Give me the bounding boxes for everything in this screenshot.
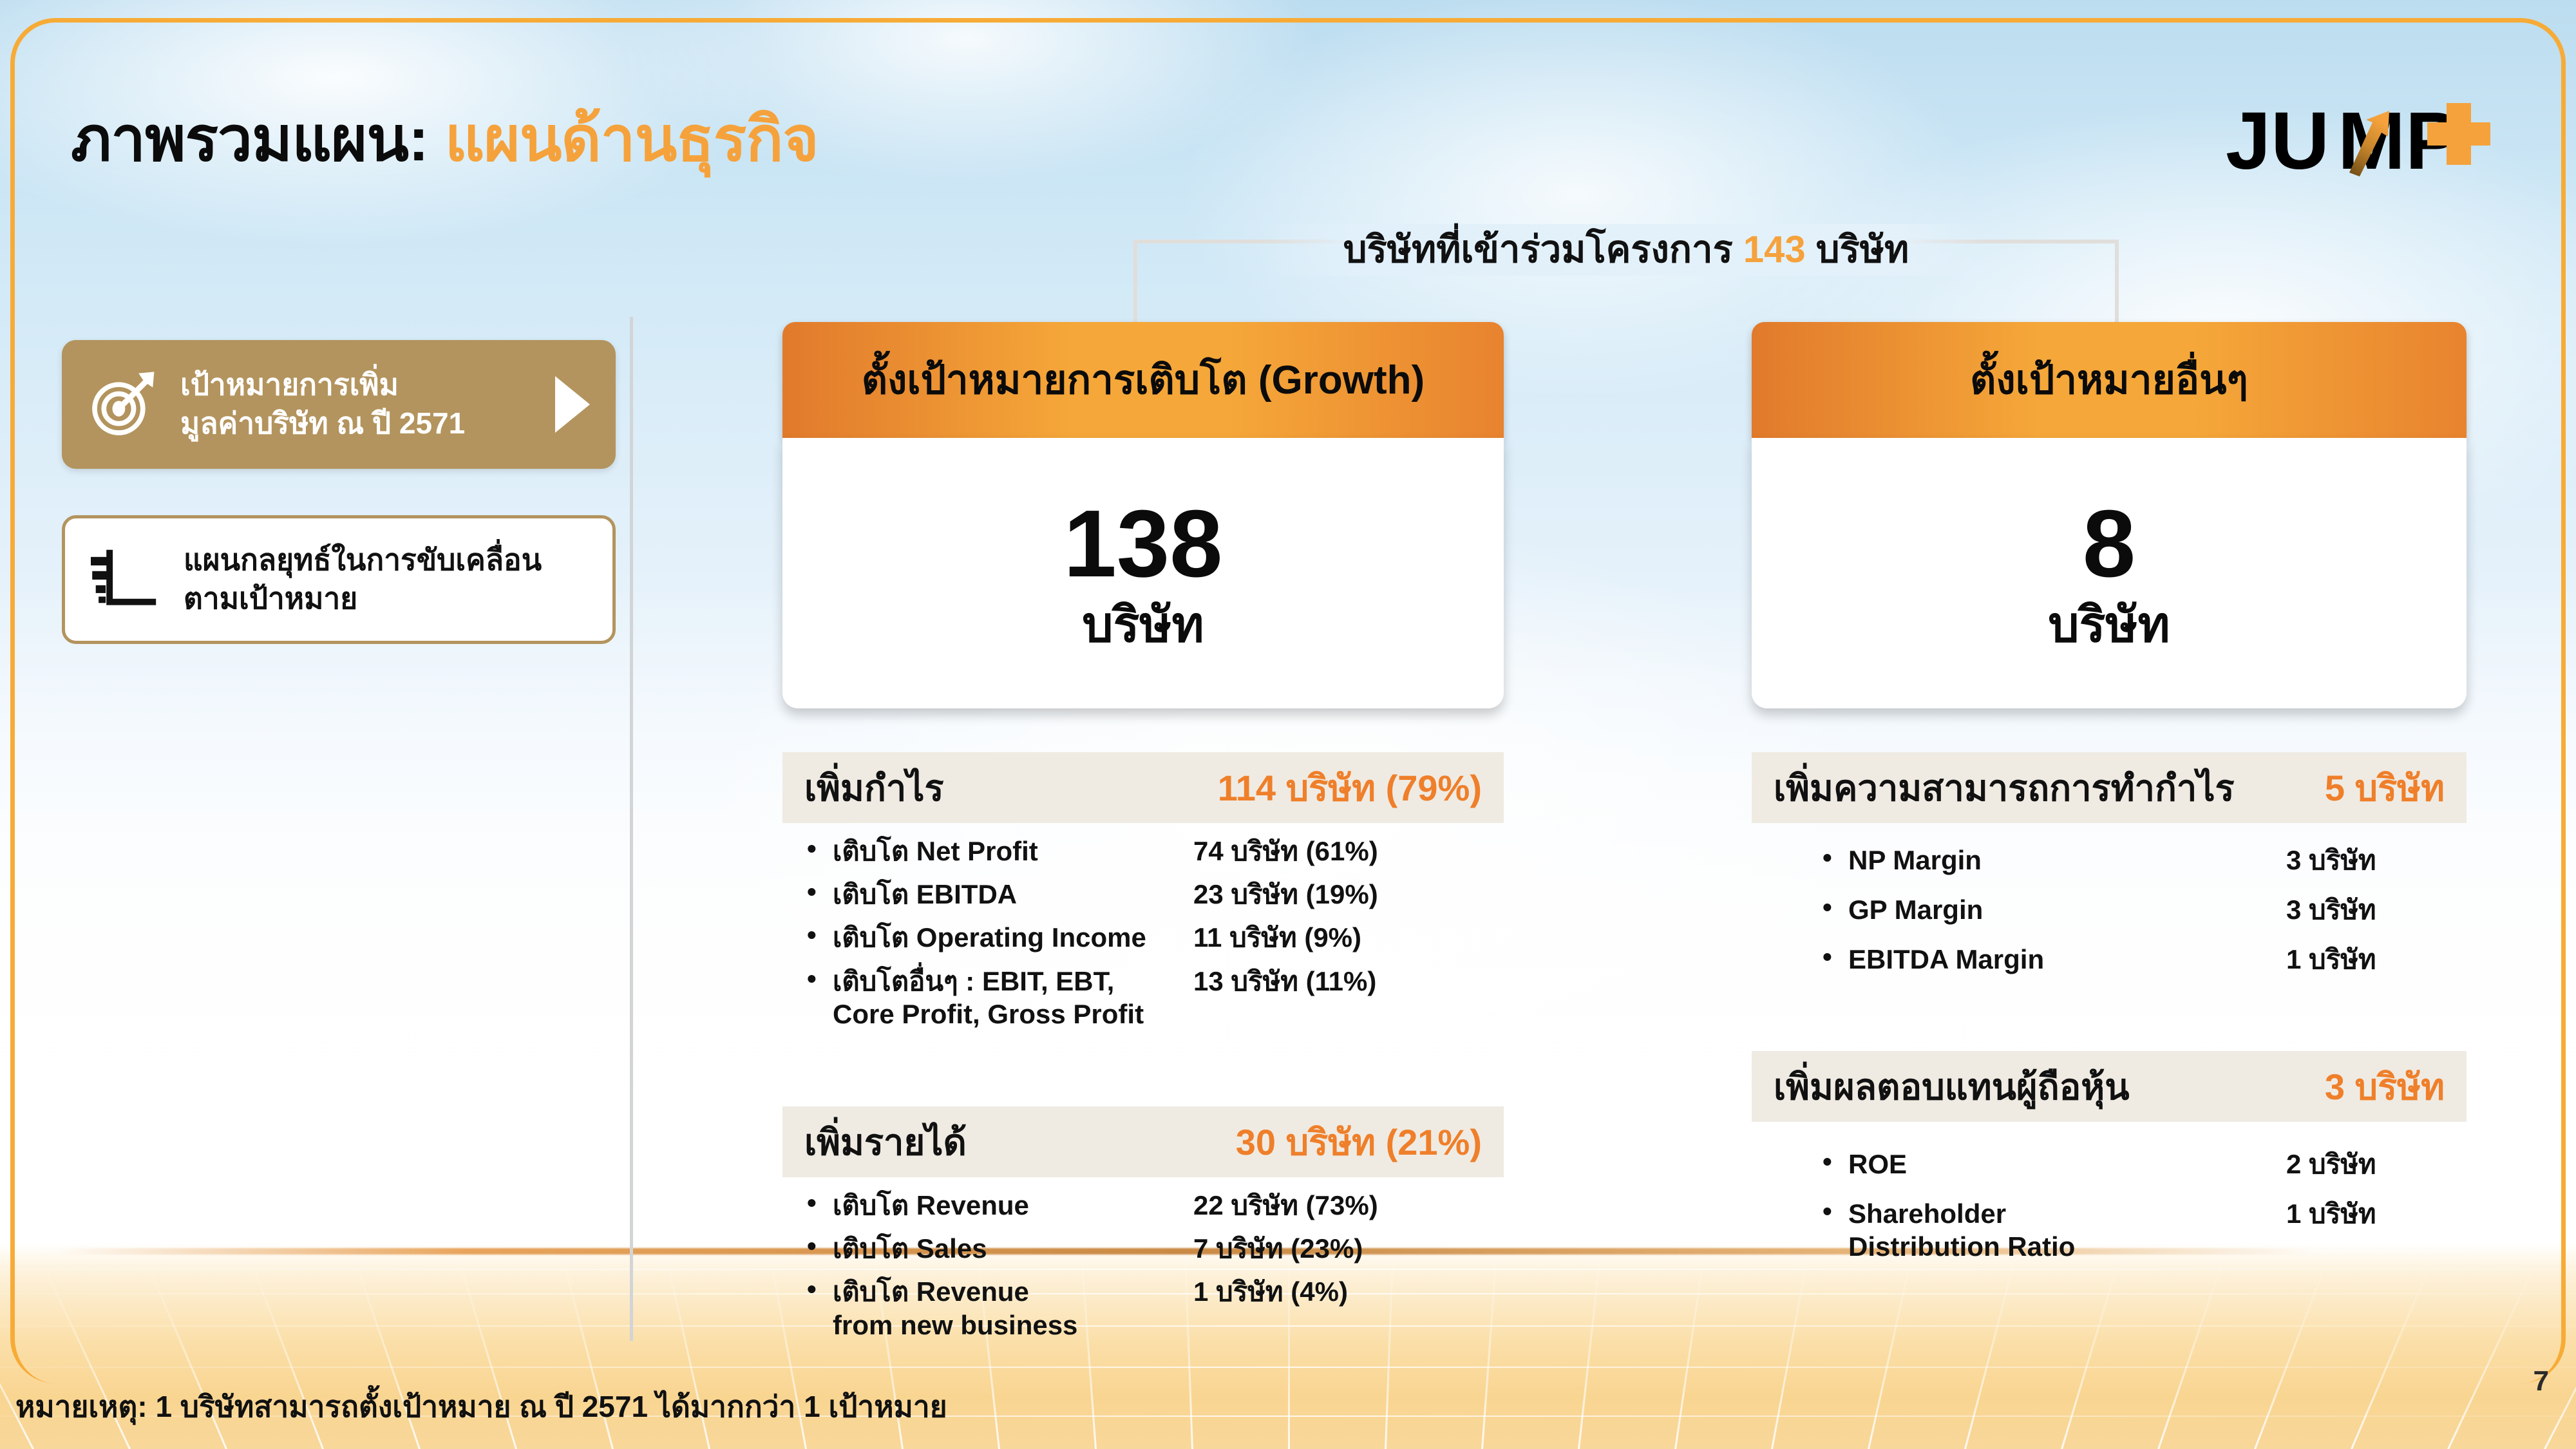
list-item-label: เติบโต Revenue from new business <box>833 1275 1193 1341</box>
section-title: เพิ่มกำไร <box>804 759 944 817</box>
list-item-label: ROE <box>1848 1148 2286 1180</box>
list-item-label: Shareholder Distribution Ratio <box>1848 1197 2286 1263</box>
section-increase-profitability-header: เพิ่มความสามารถการทำกำไร 5 บริษัท <box>1752 752 2467 823</box>
list-item-label-text: ROE <box>1848 1149 1907 1179</box>
list-item-value: 3 บริษัท <box>2286 844 2376 876</box>
section-increase-profit-header: เพิ่มกำไร 114 บริษัท (79%) <box>782 752 1504 823</box>
section-increase-profit-rows: • เติบโต Net Profit 74 บริษัท (61%) • เต… <box>782 823 1504 1030</box>
card-other-goals: ตั้งเป้าหมายอื่นๆ 8 บริษัท <box>1752 322 2467 708</box>
list-item: • เติบโต Sales 7 บริษัท (23%) <box>807 1232 1504 1265</box>
list-item-value: 1 บริษัท <box>2286 1197 2376 1230</box>
bullet-icon: • <box>807 835 833 863</box>
section-increase-profitability: เพิ่มความสามารถการทำกำไร 5 บริษัท • NP M… <box>1752 752 2467 993</box>
top-label-prefix: บริษัทที่เข้าร่วมโครงการ <box>1343 229 1743 270</box>
bullet-icon: • <box>807 965 833 993</box>
section-value: 5 บริษัท <box>2325 759 2445 817</box>
list-item-label-text: เติบโต Revenue <box>833 1276 1029 1307</box>
list-item-value: 23 บริษัท (19%) <box>1193 878 1378 911</box>
card-other-goals-header: ตั้งเป้าหมายอื่นๆ <box>1752 322 2467 438</box>
top-label-count: 143 <box>1743 229 1806 270</box>
page-title: ภาพรวมแผน: แผนด้านธุรกิจ <box>71 90 819 188</box>
vertical-divider <box>630 317 633 1341</box>
list-item-value: 2 บริษัท <box>2286 1148 2376 1180</box>
sidebar-line-1: แผนกลยุทธ์ในการขับเคลื่อน <box>184 543 542 576</box>
card-other-goals-unit: บริษัท <box>2048 601 2170 650</box>
list-item: • เติบโต Net Profit 74 บริษัท (61%) <box>807 835 1504 867</box>
bullet-icon: • <box>807 921 833 949</box>
sidebar-line-2: ตามเป้าหมาย <box>184 582 357 615</box>
participating-companies-label: บริษัทที่เข้าร่วมโครงการ 143 บริษัท <box>1275 219 1977 279</box>
list-item: • NP Margin 3 บริษัท <box>1823 844 2467 876</box>
list-item: • EBITDA Margin 1 บริษัท <box>1823 943 2467 976</box>
list-item-label-continuation: Distribution Ratio <box>1848 1230 2286 1263</box>
section-title: เพิ่มผลตอบแทนผู้ถือหุ้น <box>1774 1058 2129 1115</box>
section-title: เพิ่มความสามารถการทำกำไร <box>1774 759 2235 817</box>
card-growth-body: 138 บริษัท <box>782 438 1504 708</box>
list-item-label-text: เติบโต Net Profit <box>833 836 1038 866</box>
top-label-suffix: บริษัท <box>1806 229 1909 270</box>
connector-right-drop <box>2115 240 2119 335</box>
bullet-icon: • <box>807 1189 833 1217</box>
sidebar-line-1: เป้าหมายการเพิ่ม <box>180 368 399 401</box>
chevron-right-icon <box>551 374 592 435</box>
list-item-label-text: เติบโต EBITDA <box>833 879 1017 909</box>
section-value: 3 บริษัท <box>2325 1058 2445 1115</box>
connector-left-drop <box>1133 240 1137 335</box>
list-item-value: 11 บริษัท (9%) <box>1193 921 1361 954</box>
list-item: • เติบโต EBITDA 23 บริษัท (19%) <box>807 878 1504 911</box>
list-item: • GP Margin 3 บริษัท <box>1823 893 2467 926</box>
card-growth-header: ตั้งเป้าหมายการเติบโต (Growth) <box>782 322 1504 438</box>
list-item-label: เติบโต Net Profit <box>833 835 1193 867</box>
list-item-value: 1 บริษัท (4%) <box>1193 1275 1348 1308</box>
page-title-highlight: แผนด้านธุรกิจ <box>445 105 819 174</box>
list-item-value: 74 บริษัท (61%) <box>1193 835 1378 867</box>
list-item-label: เติบโต EBITDA <box>833 878 1193 911</box>
list-item-label-continuation: Core Profit, Gross Profit <box>833 998 1193 1030</box>
bullet-icon: • <box>807 1232 833 1260</box>
section-value: 114 บริษัท (79%) <box>1218 759 1482 817</box>
bullet-icon: • <box>807 1275 833 1303</box>
list-item: • เติบโต Operating Income 11 บริษัท (9%) <box>807 921 1504 954</box>
sidebar-item-value-goal[interactable]: เป้าหมายการเพิ่ม มูลค่าบริษัท ณ ปี 2571 <box>62 340 616 469</box>
list-item-label-text: GP Margin <box>1848 895 1983 925</box>
list-item-label: เติบโตอื่นๆ : EBIT, EBT, Core Profit, Gr… <box>833 965 1193 1030</box>
sidebar-item-strategy-plan[interactable]: แผนกลยุทธ์ในการขับเคลื่อน ตามเป้าหมาย <box>62 515 616 644</box>
section-value: 30 บริษัท (21%) <box>1236 1113 1482 1171</box>
list-item: • Shareholder Distribution Ratio 1 บริษั… <box>1823 1197 2467 1263</box>
bullet-icon: • <box>1823 844 1848 872</box>
list-item: • เติบโต Revenue 22 บริษัท (73%) <box>807 1189 1504 1222</box>
section-increase-shareholder-return-rows: • ROE 2 บริษัท • Shareholder Distributio… <box>1752 1122 2467 1264</box>
section-increase-shareholder-return: เพิ่มผลตอบแทนผู้ถือหุ้น 3 บริษัท • ROE 2… <box>1752 1051 2467 1280</box>
bullet-icon: • <box>1823 943 1848 971</box>
section-increase-revenue-rows: • เติบโต Revenue 22 บริษัท (73%) • เติบโ… <box>782 1177 1504 1341</box>
list-item-label: NP Margin <box>1848 844 2286 876</box>
section-increase-profitability-rows: • NP Margin 3 บริษัท • GP Margin 3 บริษั… <box>1752 823 2467 976</box>
card-other-goals-body: 8 บริษัท <box>1752 438 2467 708</box>
page-title-prefix: ภาพรวมแผน: <box>71 105 445 174</box>
card-other-goals-number: 8 <box>2083 497 2136 592</box>
target-icon <box>88 369 158 440</box>
list-item-label: เติบโต Operating Income <box>833 921 1193 954</box>
card-growth: ตั้งเป้าหมายการเติบโต (Growth) 138 บริษั… <box>782 322 1504 708</box>
section-increase-shareholder-return-header: เพิ่มผลตอบแทนผู้ถือหุ้น 3 บริษัท <box>1752 1051 2467 1122</box>
list-item-label: EBITDA Margin <box>1848 943 2286 976</box>
bar-chart-icon <box>91 544 162 615</box>
list-item-value: 3 บริษัท <box>2286 893 2376 926</box>
sidebar-item-value-goal-label: เป้าหมายการเพิ่ม มูลค่าบริษัท ณ ปี 2571 <box>180 366 465 443</box>
list-item-label-continuation: from new business <box>833 1309 1193 1341</box>
list-item-label-text: เติบโตอื่นๆ : EBIT, EBT, <box>833 966 1114 996</box>
sidebar-item-strategy-plan-label: แผนกลยุทธ์ในการขับเคลื่อน ตามเป้าหมาย <box>184 541 542 618</box>
list-item-label-text: เติบโต Operating Income <box>833 922 1146 952</box>
list-item-label-text: เติบโต Sales <box>833 1233 987 1264</box>
card-growth-number: 138 <box>1064 497 1223 592</box>
sidebar-line-2: มูลค่าบริษัท ณ ปี 2571 <box>180 406 465 440</box>
footnote: หมายเหตุ: 1 บริษัทสามารถตั้งเป้าหมาย ณ ป… <box>15 1383 947 1430</box>
list-item-value: 13 บริษัท (11%) <box>1193 965 1376 998</box>
section-increase-profit: เพิ่มกำไร 114 บริษัท (79%) • เติบโต Net … <box>782 752 1504 1041</box>
page-number: 7 <box>2533 1365 2549 1397</box>
list-item: • ROE 2 บริษัท <box>1823 1148 2467 1180</box>
list-item-label: GP Margin <box>1848 893 2286 926</box>
bullet-icon: • <box>807 878 833 906</box>
list-item-label-text: Shareholder <box>1848 1198 2006 1229</box>
list-item-label-text: NP Margin <box>1848 845 1982 875</box>
list-item-label-text: EBITDA Margin <box>1848 944 2044 974</box>
bullet-icon: • <box>1823 893 1848 922</box>
list-item: • เติบโตอื่นๆ : EBIT, EBT, Core Profit, … <box>807 965 1504 1030</box>
list-item-value: 1 บริษัท <box>2286 943 2376 976</box>
list-item-label: เติบโต Revenue <box>833 1189 1193 1222</box>
section-increase-revenue: เพิ่มรายได้ 30 บริษัท (21%) • เติบโต Rev… <box>782 1106 1504 1352</box>
list-item-label-text: เติบโต Revenue <box>833 1190 1029 1220</box>
list-item-value: 7 บริษัท (23%) <box>1193 1232 1363 1265</box>
card-growth-unit: บริษัท <box>1082 601 1204 650</box>
jump-plus-logo: JU MP <box>2223 97 2494 187</box>
list-item: • เติบโต Revenue from new business 1 บริ… <box>807 1275 1504 1341</box>
section-title: เพิ่มรายได้ <box>804 1113 967 1171</box>
list-item-label: เติบโต Sales <box>833 1232 1193 1265</box>
bullet-icon: • <box>1823 1148 1848 1176</box>
svg-text:JU: JU <box>2226 97 2329 186</box>
bullet-icon: • <box>1823 1197 1848 1226</box>
section-increase-revenue-header: เพิ่มรายได้ 30 บริษัท (21%) <box>782 1106 1504 1177</box>
list-item-value: 22 บริษัท (73%) <box>1193 1189 1378 1222</box>
